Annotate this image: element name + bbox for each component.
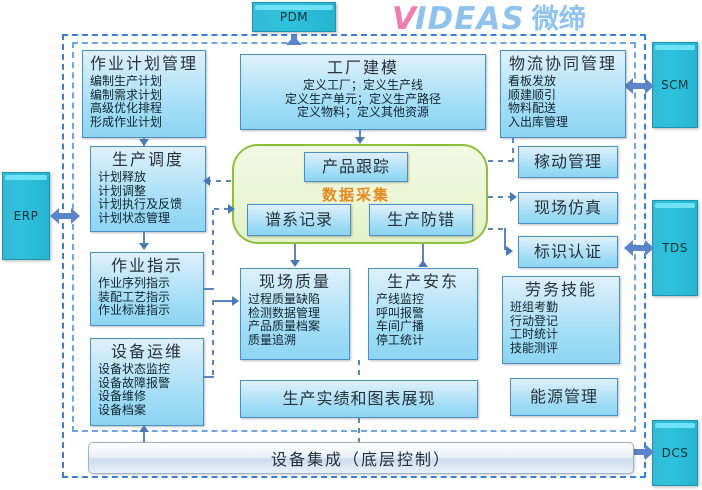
arrow-head-left [624, 240, 633, 256]
connector-erp-arrow [50, 208, 80, 224]
external-system-scm[interactable]: SCM [652, 42, 698, 128]
module-energy-management[interactable]: 能源管理 [510, 378, 618, 416]
module-title: 生产安东 [369, 269, 477, 292]
module-item-list: 班组考勤 行动登记 工时统计 技能测评 [503, 300, 619, 355]
equipment-integration-bar[interactable]: 设备集成（底层控制） [88, 442, 634, 474]
module-equipment-maintenance[interactable]: 设备运维 设备状态监控 设备故障报警 设备维修 设备档案 [90, 338, 204, 426]
arrow-head-down [139, 243, 149, 250]
external-system-dcs[interactable]: DCS [652, 420, 698, 486]
connector-tds-arrow [624, 240, 654, 256]
diagram-canvas: V IDEAS 微缔 PDM ERP SCM TDS DCS 作业计划管理 [0, 0, 702, 490]
module-title: 生产实绩和图表展现 [282, 389, 435, 409]
module-title: 作业计划管理 [83, 51, 205, 74]
module-production-andon[interactable]: 生产安东 产线监控 呼叫报警 车间广播 停工统计 [368, 268, 478, 360]
arrow-head-right [510, 192, 517, 202]
module-title: 劳务技能 [503, 277, 619, 300]
module-identification-certification[interactable]: 标识认证 [518, 236, 618, 268]
connector-instruction-stub [204, 288, 214, 290]
list-item: 入出库管理 [508, 116, 625, 130]
external-system-erp[interactable]: ERP [2, 172, 50, 260]
list-item: 行动登记 [510, 315, 619, 329]
module-production-scheduling[interactable]: 生产调度 计划释放 计划调整 计划执行及反馈 计划状态管理 [90, 146, 206, 232]
module-field-simulation[interactable]: 现场仿真 [518, 192, 618, 224]
list-item: 计划调整 [98, 185, 205, 199]
list-item: 看板发放 [508, 75, 625, 89]
module-product-tracking[interactable]: 产品跟踪 [304, 152, 408, 182]
list-item: 停工统计 [376, 334, 477, 348]
module-item-list: 看板发放 顺建顺引 物料配送 入出库管理 [501, 74, 625, 129]
module-title: 生产调度 [91, 147, 205, 170]
module-item-list: 计划释放 计划调整 计划执行及反馈 计划状态管理 [91, 170, 205, 225]
external-system-dcs-label: DCS [662, 446, 689, 460]
module-title: 作业指示 [91, 253, 203, 276]
module-item-list: 产线监控 呼叫报警 车间广播 停工统计 [369, 292, 477, 347]
arrow-head-down [290, 260, 300, 267]
list-item: 设备状态监控 [98, 363, 203, 377]
module-field-quality[interactable]: 现场质量 过程质量缺陷 检测数据管理 产品质量档案 质量追溯 [240, 268, 350, 360]
list-item: 编制需求计划 [90, 89, 205, 103]
list-item: 计划状态管理 [98, 212, 205, 226]
module-logistics-collaboration[interactable]: 物流协同管理 看板发放 顺建顺引 物料配送 入出库管理 [500, 50, 626, 138]
list-item: 设备维修 [98, 390, 203, 404]
list-item: 装配工艺指示 [98, 291, 203, 305]
external-system-erp-label: ERP [14, 209, 39, 223]
connector-instruction-riser [212, 210, 214, 276]
module-labor-skills[interactable]: 劳务技能 班组考勤 行动登记 工时统计 技能测评 [502, 276, 620, 364]
module-work-instruction[interactable]: 作业指示 作业序列指示 装配工艺指示 作业标准指示 [90, 252, 204, 326]
module-item-list: 设备状态监控 设备故障报警 设备维修 设备档案 [91, 362, 203, 417]
arrow-head-left [203, 176, 210, 186]
module-title: 能源管理 [530, 387, 598, 407]
module-factory-modeling[interactable]: 工厂建模 定义工厂；定义生产线 定义生产单元；定义生产路径 定义物料；定义其他资… [240, 54, 486, 130]
list-item: 设备档案 [98, 404, 203, 418]
list-item: 工时统计 [510, 328, 619, 342]
arrow-head-up [418, 260, 428, 267]
module-title: 生产防错 [387, 210, 455, 230]
arrow-head-up [139, 425, 149, 432]
list-item: 作业标准指示 [98, 304, 203, 318]
brand-chinese: 微缔 [532, 6, 586, 33]
list-item: 顺建顺引 [508, 89, 625, 103]
arrow-head-right [232, 296, 239, 306]
arrow-head-right [506, 246, 513, 256]
module-production-reporting[interactable]: 生产实绩和图表展现 [240, 380, 478, 418]
list-item: 检测数据管理 [248, 307, 349, 321]
module-production-plan[interactable]: 作业计划管理 编制生产计划 编制需求计划 高级优化排程 形成作业计划 [82, 50, 206, 138]
data-collection-label: 数据采集 [304, 184, 408, 205]
arrow-shaft [59, 213, 71, 219]
arrow-head-right [645, 78, 654, 94]
module-title: 工厂建模 [241, 55, 485, 78]
list-item: 形成作业计划 [90, 116, 205, 130]
arrow-head-right [645, 444, 654, 460]
list-item: 班组考勤 [510, 301, 619, 315]
brand-logo: V IDEAS 微缔 [392, 2, 692, 36]
connector-logistics-out [488, 160, 514, 162]
arrow-head-down [139, 139, 149, 146]
connector-pdm-arrow [286, 32, 302, 46]
external-system-pdm[interactable]: PDM [252, 2, 336, 32]
connector-logistics-riser [512, 138, 514, 162]
list-item: 产品质量档案 [248, 320, 349, 334]
connector-equipment-stub [204, 376, 214, 378]
list-item: 定义工厂；定义生产线 [241, 79, 485, 93]
module-item-list: 过程质量缺陷 检测数据管理 产品质量档案 质量追溯 [241, 292, 349, 347]
module-genealogy-record[interactable]: 谱系记录 [247, 204, 351, 236]
arrow-shaft [633, 83, 645, 89]
module-title: 现场仿真 [534, 198, 602, 218]
module-utilization-management[interactable]: 稼动管理 [518, 146, 618, 178]
module-title: 设备运维 [91, 339, 203, 362]
list-item: 产线监控 [376, 293, 477, 307]
list-item: 定义物料；定义其他资源 [241, 106, 485, 120]
module-item-list: 定义工厂；定义生产线 定义生产单元；定义生产路径 定义物料；定义其他资源 [241, 78, 485, 120]
module-title: 现场质量 [241, 269, 349, 292]
external-system-pdm-label: PDM [280, 10, 308, 24]
module-title: 标识认证 [534, 242, 602, 262]
list-item: 高级优化排程 [90, 102, 205, 116]
list-item: 呼叫报警 [376, 307, 477, 321]
arrow-head-right [228, 204, 235, 214]
arrow-head-left [50, 208, 59, 224]
list-item: 车间广播 [376, 320, 477, 334]
external-system-tds[interactable]: TDS [652, 200, 698, 296]
list-item: 设备故障报警 [98, 377, 203, 391]
arrow-shaft [633, 449, 645, 455]
list-item: 作业序列指示 [98, 277, 203, 291]
list-item: 编制生产计划 [90, 75, 205, 89]
list-item: 定义生产单元；定义生产路径 [241, 93, 485, 107]
external-system-scm-label: SCM [661, 78, 689, 92]
arrow-head-right [645, 240, 654, 256]
list-item: 计划执行及反馈 [98, 198, 205, 212]
brand-latin: IDEAS [415, 4, 525, 35]
brand-mark-v: V [392, 4, 415, 35]
module-item-list: 作业序列指示 装配工艺指示 作业标准指示 [91, 276, 203, 318]
module-title: 稼动管理 [534, 152, 602, 172]
module-title: 物流协同管理 [501, 51, 625, 74]
module-title: 谱系记录 [265, 210, 333, 230]
list-item: 计划释放 [98, 171, 205, 185]
connector-equipment-riser [212, 300, 214, 376]
connector-reporting-up [358, 360, 360, 380]
arrow-shaft [633, 245, 645, 251]
external-system-tds-label: TDS [662, 241, 688, 255]
arrow-head-down [355, 137, 365, 144]
list-item: 过程质量缺陷 [248, 293, 349, 307]
list-item: 物料配送 [508, 102, 625, 116]
connector-reporting-down [358, 418, 360, 442]
module-title: 产品跟踪 [322, 157, 390, 177]
list-item: 技能测评 [510, 342, 619, 356]
equipment-integration-label: 设备集成（底层控制） [271, 446, 451, 470]
module-error-proofing[interactable]: 生产防错 [369, 204, 473, 236]
list-item: 质量追溯 [248, 334, 349, 348]
connector-schedule-from-data [206, 180, 234, 182]
module-item-list: 编制生产计划 编制需求计划 高级优化排程 形成作业计划 [83, 74, 205, 129]
connector-scm-arrow [624, 78, 654, 94]
arrow-head-right [71, 208, 80, 224]
